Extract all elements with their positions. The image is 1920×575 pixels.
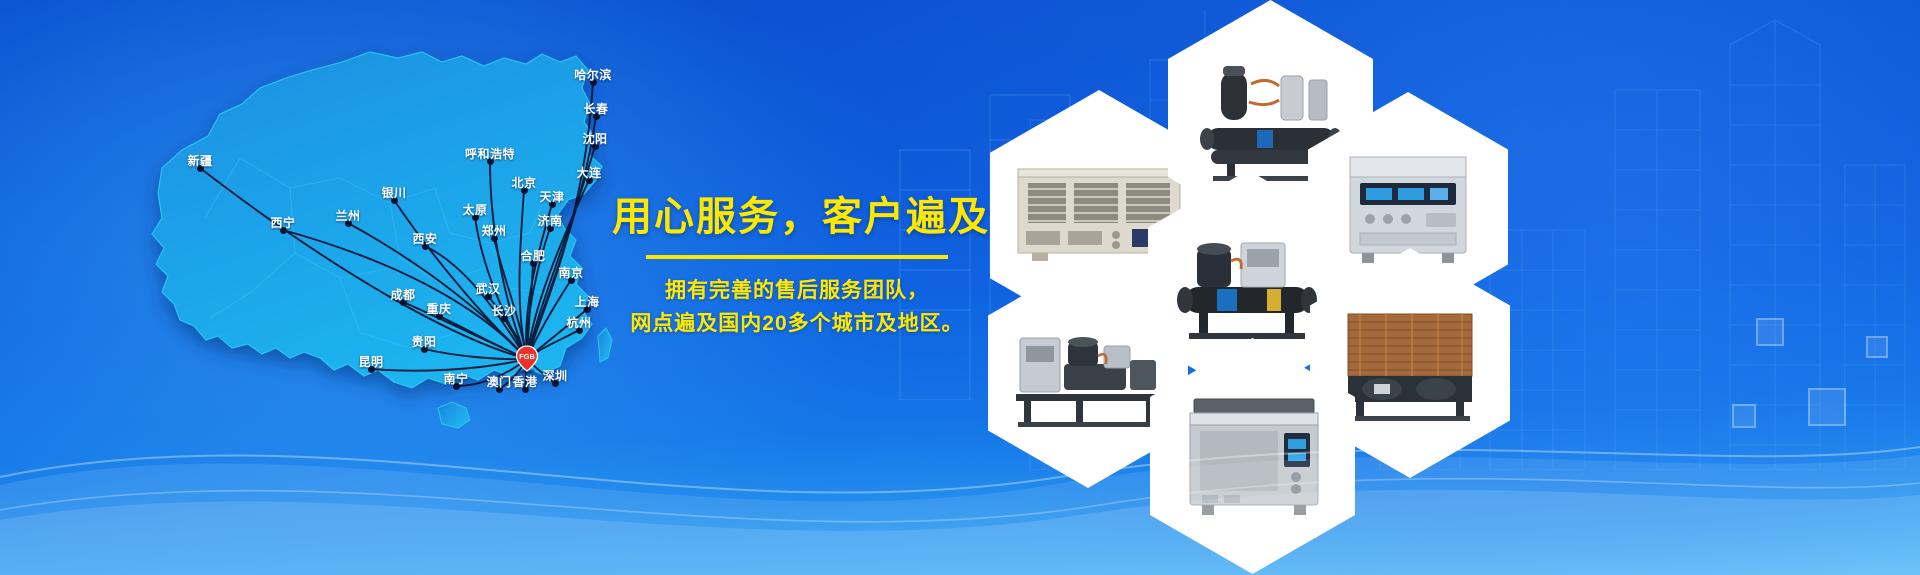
condensing-unit-skid-image: [1006, 312, 1170, 434]
headline: 用心服务，客户遍及全国: [612, 196, 982, 238]
map-island-hainan: [438, 402, 470, 428]
decor-square-1: [1756, 318, 1784, 346]
subtitle-line-1: 拥有完善的售后服务团队，: [612, 275, 982, 308]
location-pin-icon: FGB: [512, 344, 542, 374]
decor-square-2: [1808, 388, 1846, 426]
divider-rule: [646, 255, 948, 259]
decor-square-3: [1732, 404, 1756, 428]
map-island-taiwan: [598, 328, 612, 362]
banner-copy: 用心服务，客户遍及全国 拥有完善的售后服务团队， 网点遍及国内20多个城市及地区…: [612, 196, 982, 340]
decor-square-4: [1866, 336, 1888, 358]
product-hex-cluster: [960, 0, 1920, 575]
promo-banner: 新疆哈尔滨长春沈阳大连呼和浩特北京天津银川太原兰州西宁西安郑州济南合肥南京武汉长…: [0, 0, 1920, 575]
subtitle-line-2: 网点遍及国内20多个城市及地区。: [612, 308, 982, 341]
hub-marker-label: FGB: [519, 352, 535, 361]
screw-compressor-unit-image: [1167, 225, 1329, 345]
cabinet-water-chiller-image: [1168, 389, 1338, 523]
